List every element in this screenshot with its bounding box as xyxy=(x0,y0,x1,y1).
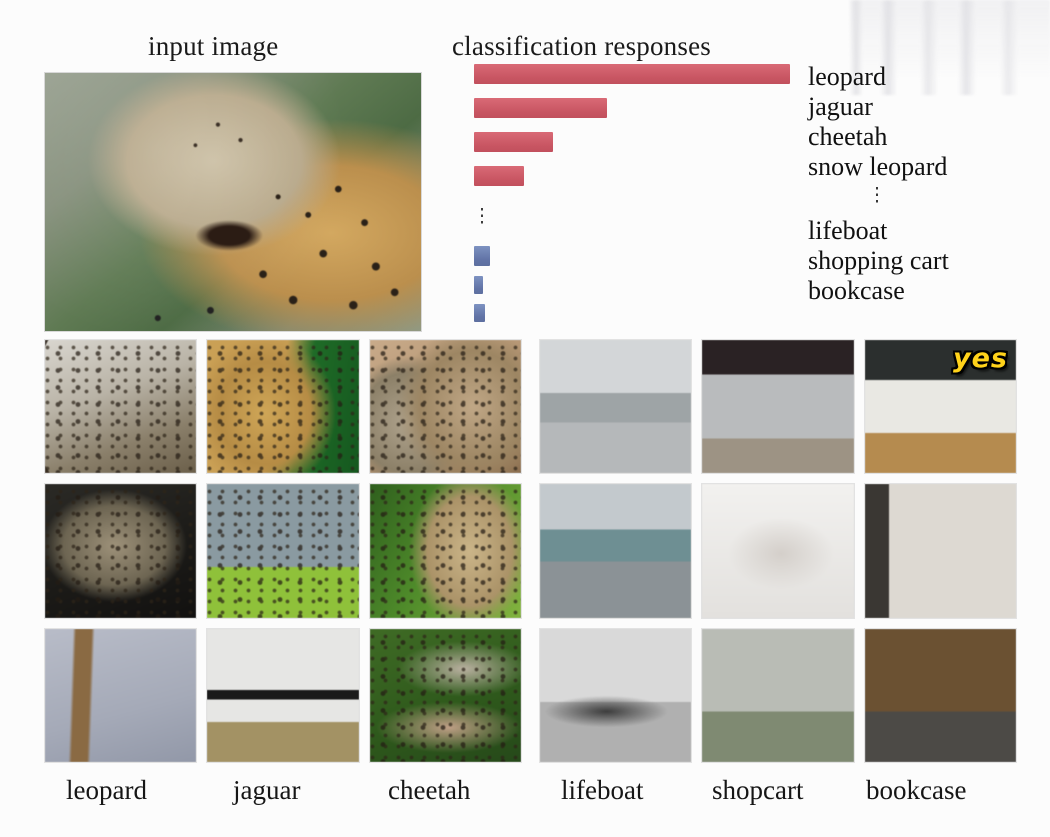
yes-overlay-text: yes xyxy=(953,343,1008,374)
thumbnail-cell xyxy=(369,339,522,474)
bar-snow-leopard xyxy=(474,166,524,186)
bar-shopping-cart xyxy=(474,276,483,294)
thumbnail-cell xyxy=(701,339,854,474)
class-label-shopping-cart: shopping cart xyxy=(808,246,1046,276)
category-label-row: leopard jaguar cheetah lifeboat shopcart… xyxy=(0,775,1050,820)
category-label-lifeboat: lifeboat xyxy=(561,775,643,806)
class-label-ellipsis-row: ⋮ xyxy=(808,182,1046,216)
figure-root: input image classification responses ⋮ l… xyxy=(0,0,1050,837)
thumbnail-cell xyxy=(44,628,197,763)
input-image xyxy=(44,72,422,332)
bar-bookcase xyxy=(474,304,485,322)
thumbnail-cell xyxy=(539,628,692,763)
bar-jaguar xyxy=(474,98,607,118)
thumbnail-cell: yes xyxy=(864,339,1017,474)
thumbnail-cell xyxy=(206,628,359,763)
class-label-leopard: leopard xyxy=(808,62,1046,92)
bar-lifeboat xyxy=(474,246,490,266)
thumbnail-cell xyxy=(539,339,692,474)
category-label-cheetah: cheetah xyxy=(388,775,470,806)
thumbnail-cell xyxy=(701,628,854,763)
thumbnail-cell xyxy=(369,628,522,763)
class-label-snow-leopard: snow leopard xyxy=(808,152,1046,182)
category-label-bookcase: bookcase xyxy=(866,775,966,806)
thumbnail-cell xyxy=(206,483,359,618)
class-label-list: leopard jaguar cheetah snow leopard ⋮ li… xyxy=(808,62,1046,306)
category-label-jaguar: jaguar xyxy=(233,775,300,806)
right-thumbnail-grid: yes xyxy=(539,339,1017,763)
class-label-ellipsis: ⋮ xyxy=(874,184,879,206)
thumbnail-cell xyxy=(864,483,1017,618)
left-thumbnail-grid xyxy=(44,339,522,763)
thumbnail-cell xyxy=(864,628,1017,763)
class-label-bookcase: bookcase xyxy=(808,276,1046,306)
thumbnail-cell xyxy=(539,483,692,618)
class-label-cheetah: cheetah xyxy=(808,122,1046,152)
class-label-lifeboat: lifeboat xyxy=(808,216,1046,246)
bar-cheetah xyxy=(474,132,553,152)
bar-leopard xyxy=(474,64,790,84)
bar-ellipsis: ⋮ xyxy=(478,205,484,227)
thumbnail-cell xyxy=(369,483,522,618)
class-label-jaguar: jaguar xyxy=(808,92,1046,122)
category-label-shopcart: shopcart xyxy=(712,775,803,806)
classification-responses-title: classification responses xyxy=(452,31,711,62)
thumbnail-cell xyxy=(44,483,197,618)
classification-bar-chart: ⋮ xyxy=(474,64,804,314)
thumbnail-cell xyxy=(44,339,197,474)
thumbnail-cell xyxy=(701,483,854,618)
thumbnail-cell xyxy=(206,339,359,474)
input-image-title: input image xyxy=(148,31,278,62)
category-label-leopard: leopard xyxy=(66,775,147,806)
